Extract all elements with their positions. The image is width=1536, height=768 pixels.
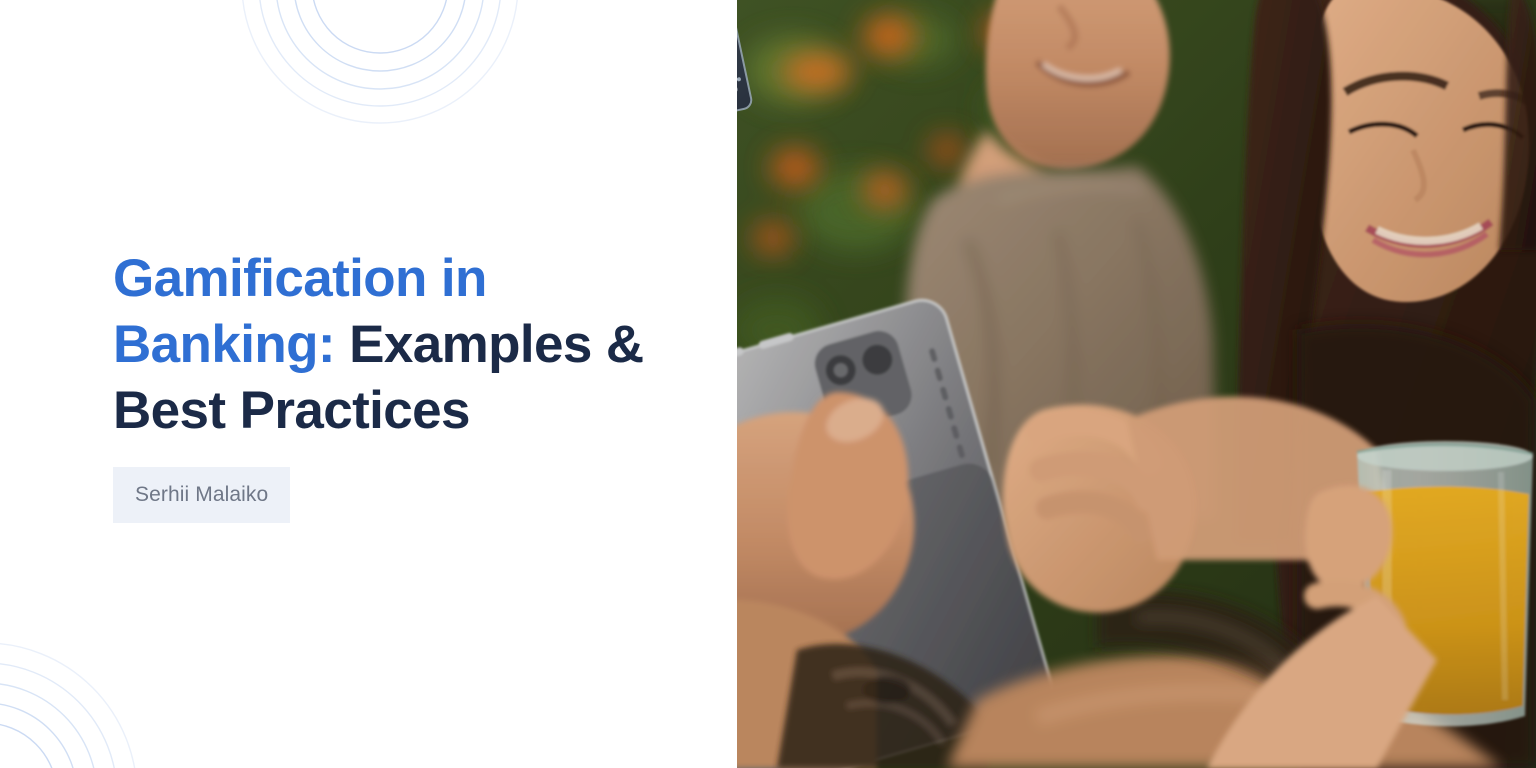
author-badge[interactable]: Serhii Malaiko bbox=[113, 467, 290, 523]
title-line-1-accent: Gamification in bbox=[113, 249, 487, 308]
concentric-rings-top-decor bbox=[180, 0, 580, 185]
author-name: Serhii Malaiko bbox=[135, 483, 268, 507]
title-line-2-rest: Examples & bbox=[335, 315, 644, 374]
concentric-rings-bottom-decor bbox=[0, 585, 195, 768]
title-line-2-accent: Banking: bbox=[113, 315, 335, 374]
article-hero-banner: Gamification inBanking: Examples &Best P… bbox=[0, 0, 1536, 768]
title-line-3-rest: Best Practices bbox=[113, 381, 470, 440]
page-title: Gamification inBanking: Examples &Best P… bbox=[113, 246, 693, 444]
left-text-panel: Gamification inBanking: Examples &Best P… bbox=[0, 0, 737, 768]
hero-photo: BANK NAME 3045 1234 5657 9010 MM/YY 09/8… bbox=[737, 0, 1536, 768]
